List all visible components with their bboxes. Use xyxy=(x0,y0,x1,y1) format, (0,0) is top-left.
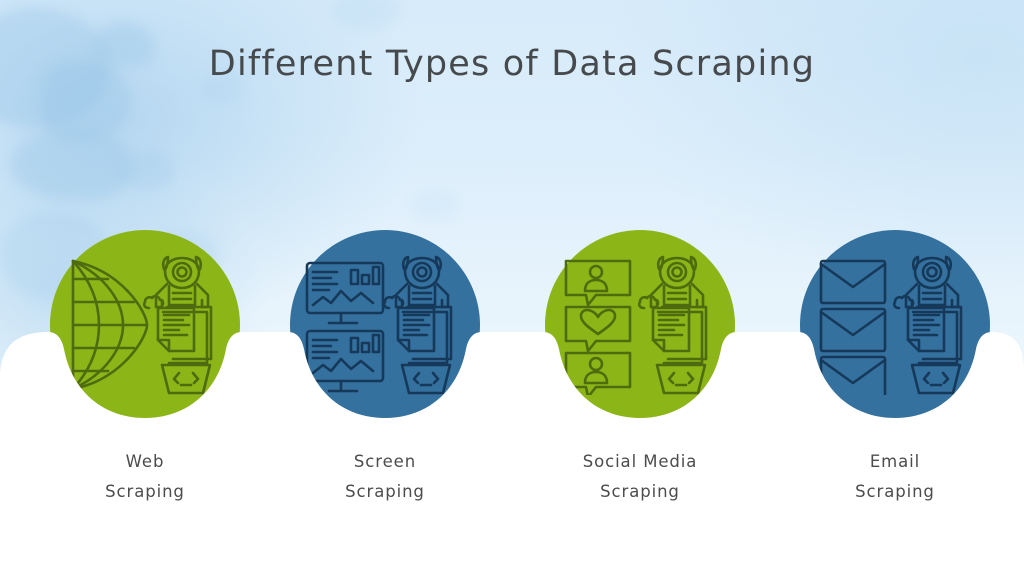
page-title: Different Types of Data Scraping xyxy=(0,44,1024,84)
person-bubble-icon xyxy=(566,261,630,305)
category-label-social-media-scraping: Social Media Scraping xyxy=(510,447,770,507)
envelope-icon xyxy=(821,261,885,303)
envelope-icon xyxy=(821,309,885,351)
category-label-web-scraping: Web Scraping xyxy=(15,447,275,507)
watercolor-splash xyxy=(410,190,460,220)
watercolor-splash xyxy=(120,150,175,190)
robot-documents-basket-icon xyxy=(144,257,211,393)
robot-documents-basket-icon xyxy=(384,257,451,393)
watercolor-splash xyxy=(330,0,400,30)
monitor-chart-icon xyxy=(307,331,383,391)
infographic-canvas: Different Types of Data Scraping xyxy=(0,0,1024,586)
globe-grid-icon xyxy=(73,261,147,389)
category-label-screen-scraping: Screen Scraping xyxy=(255,447,515,507)
category-label-email-scraping: Email Scraping xyxy=(765,447,1024,507)
envelope-icon xyxy=(821,357,885,395)
category-circle-web-scraping[interactable] xyxy=(50,230,240,420)
watercolor-splash xyxy=(10,130,130,200)
heart-bubble-icon xyxy=(566,307,630,351)
robot-documents-basket-icon xyxy=(639,257,706,393)
category-circle-screen-scraping[interactable] xyxy=(290,230,480,420)
category-circle-email-scraping[interactable] xyxy=(800,230,990,420)
person-bubble-icon xyxy=(566,353,630,395)
robot-documents-basket-icon xyxy=(894,257,961,393)
monitor-chart-icon xyxy=(307,263,383,323)
category-circle-social-media-scraping[interactable] xyxy=(545,230,735,420)
